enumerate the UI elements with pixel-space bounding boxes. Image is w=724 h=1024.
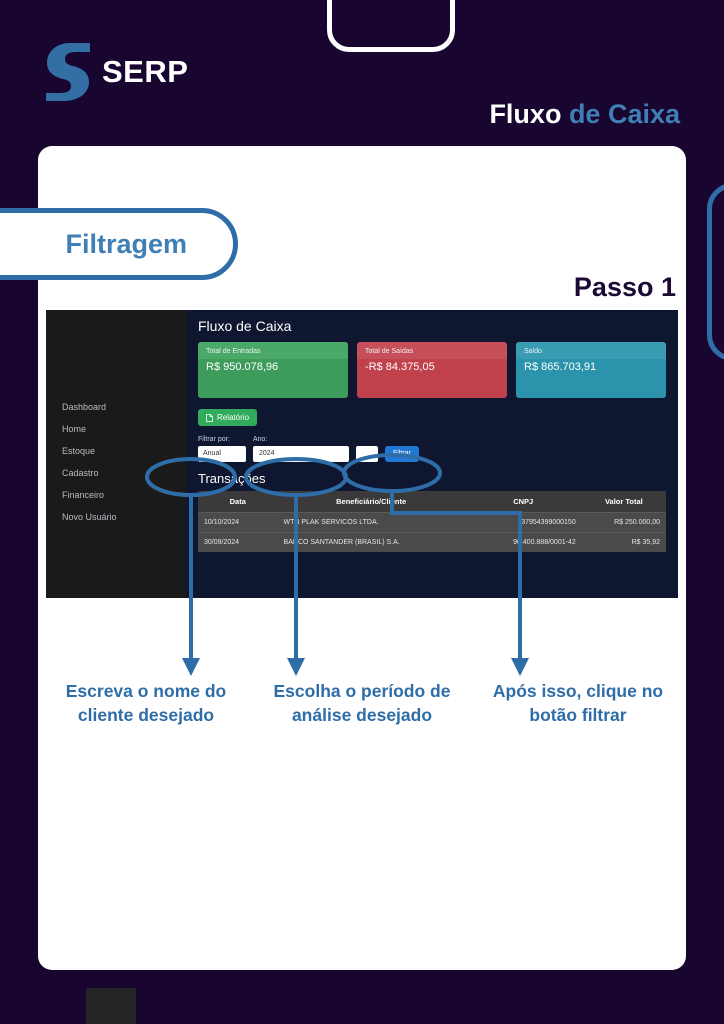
kpi-value-saidas: -R$ 84.375,05 — [357, 359, 507, 375]
section-callout-filtragem: Filtragem — [0, 208, 238, 280]
cell-beneficiario: BANCO SANTANDER (BRASIL) S.A. — [278, 532, 465, 552]
sidebar-item-cadastro[interactable]: Cadastro — [46, 462, 186, 484]
cell-data: 10/10/2024 — [198, 512, 278, 532]
cell-data: 30/09/2024 — [198, 532, 278, 552]
app-screenshot: Dashboard Home Estoque Cadastro Financei… — [46, 310, 678, 598]
kpi-card-saidas: Total de Saídas -R$ 84.375,05 — [357, 342, 507, 398]
sidebar-item-dashboard[interactable]: Dashboard — [46, 396, 186, 418]
decorative-rounded-rect-right — [707, 183, 724, 361]
document-icon — [206, 414, 213, 422]
section-callout-label: Filtragem — [65, 229, 187, 260]
app-heading: Fluxo de Caixa — [198, 318, 666, 334]
kpi-label-saidas: Total de Saídas — [357, 342, 507, 359]
cell-beneficiario: WTN PLAK SERVICOS LTDA. — [278, 512, 465, 532]
column-header-data[interactable]: Data — [198, 491, 278, 513]
year-label: Ano: — [253, 436, 349, 443]
page-title: Fluxo de Caixa — [489, 99, 680, 130]
kpi-label-entradas: Total de Entradas — [198, 342, 348, 359]
kpi-card-entradas: Total de Entradas R$ 950.078,96 — [198, 342, 348, 398]
year-group: Ano: 2024 — [253, 436, 349, 462]
kpi-value-saldo: R$ 865.703,91 — [516, 359, 666, 375]
step-captions: Escreva o nome do cliente desejado Escol… — [38, 680, 686, 727]
transactions-table: Data Beneficiário/Cliente CNPJ Valor Tot… — [198, 491, 666, 552]
sidebar-item-financeiro[interactable]: Financeiro — [46, 484, 186, 506]
column-header-beneficiario[interactable]: Beneficiário/Cliente — [278, 491, 465, 513]
cell-cnpj: 37954399000150 — [465, 512, 582, 532]
filter-by-label: Filtrar por: — [198, 436, 246, 443]
cell-valor: R$ 35,92 — [582, 532, 666, 552]
table-row[interactable]: 10/10/2024 WTN PLAK SERVICOS LTDA. 37954… — [198, 512, 666, 532]
decorative-square-bottom — [86, 988, 136, 1024]
serp-s-logo-icon — [46, 43, 92, 101]
year-input[interactable]: 2024 — [253, 446, 349, 462]
kpi-cards: Total de Entradas R$ 950.078,96 Total de… — [198, 342, 666, 398]
step-badge: Passo 1 — [574, 272, 676, 303]
transactions-heading: Transações — [198, 471, 666, 486]
kpi-value-entradas: R$ 950.078,96 — [198, 359, 348, 375]
kpi-card-saldo: Saldo R$ 865.703,91 — [516, 342, 666, 398]
sidebar-item-novo-usuario[interactable]: Novo Usuário — [46, 506, 186, 528]
app-main: Fluxo de Caixa Total de Entradas R$ 950.… — [186, 310, 678, 598]
page-title-light: de Caixa — [561, 99, 680, 129]
extra-input[interactable] — [356, 446, 378, 462]
step-caption-3: Após isso, clique no botão filtrar — [470, 680, 686, 727]
app-sidebar: Dashboard Home Estoque Cadastro Financei… — [46, 310, 186, 598]
column-header-valor[interactable]: Valor Total — [582, 491, 666, 513]
report-button-label: Relatório — [217, 413, 249, 422]
filters-row: Filtrar por: Anual Ano: 2024 Filtrar — [198, 436, 666, 462]
brand-logo: SERP — [46, 43, 188, 101]
sidebar-item-estoque[interactable]: Estoque — [46, 440, 186, 462]
step-caption-2: Escolha o período de análise desejado — [254, 680, 470, 727]
kpi-label-saldo: Saldo — [516, 342, 666, 359]
sidebar-item-home[interactable]: Home — [46, 418, 186, 440]
step-caption-1: Escreva o nome do cliente desejado — [38, 680, 254, 727]
brand-name: SERP — [102, 54, 188, 90]
decorative-rounded-rect-top — [327, 0, 455, 52]
page-title-bold: Fluxo — [489, 99, 561, 129]
table-header-row: Data Beneficiário/Cliente CNPJ Valor Tot… — [198, 491, 666, 513]
cell-cnpj: 90.400.888/0001-42 — [465, 532, 582, 552]
cell-valor: R$ 250.000,00 — [582, 512, 666, 532]
table-row[interactable]: 30/09/2024 BANCO SANTANDER (BRASIL) S.A.… — [198, 532, 666, 552]
report-button[interactable]: Relatório — [198, 409, 257, 426]
filter-submit-button[interactable]: Filtrar — [385, 446, 419, 462]
filter-by-select[interactable]: Anual — [198, 446, 246, 462]
filter-by-group: Filtrar por: Anual — [198, 436, 246, 462]
column-header-cnpj[interactable]: CNPJ — [465, 491, 582, 513]
